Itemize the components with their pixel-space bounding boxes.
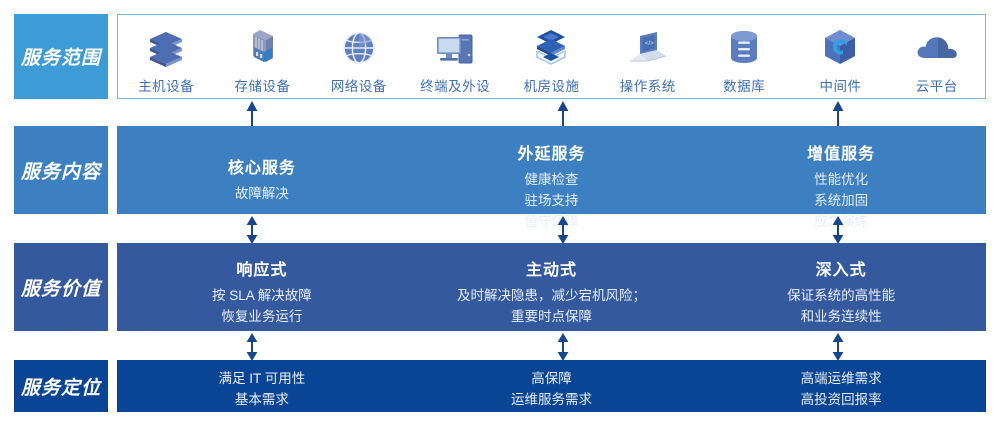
- scope-item-facility[interactable]: 机房设施: [503, 15, 599, 98]
- arrow-value-to-content-left: [236, 216, 268, 244]
- value-column-responsive[interactable]: 响应式 按 SLA 解决故障 恢复业务运行: [117, 243, 407, 331]
- scope-item-label: 机房设施: [523, 75, 579, 95]
- position-columns: 满足 IT 可用性 基本需求 高保障 运维服务需求 高端运维需求 高投资回报率: [117, 360, 986, 412]
- scope-item-label: 终端及外设: [420, 75, 490, 95]
- position-column-assurance[interactable]: 高保障 运维服务需求: [407, 360, 697, 412]
- value-column-title: 响应式: [236, 256, 287, 280]
- desktop-terminal-icon: [431, 26, 479, 70]
- position-column-line: 满足 IT 可用性: [218, 369, 305, 390]
- scope-item-database[interactable]: 数据库: [696, 15, 792, 98]
- arrow-position-to-value-left: [236, 333, 268, 361]
- scope-item-label: 主机设备: [138, 75, 194, 95]
- scope-columns: 主机设备: [118, 15, 985, 98]
- scope-item-storage[interactable]: 存储设备: [214, 15, 310, 98]
- arrow-position-to-value-right: [822, 333, 854, 361]
- position-column-line: 高端运维需求: [801, 369, 882, 390]
- row-label-text: 服务范围: [21, 43, 101, 70]
- position-column-line: 高保障: [531, 369, 572, 390]
- arrow-position-to-value-center: [547, 333, 579, 361]
- scope-item-middleware[interactable]: 中间件: [792, 15, 888, 98]
- content-columns: 核心服务 故障解决 外延服务 健康检查 驻场支持 值守保障 增值服务 性能优化 …: [117, 126, 986, 214]
- position-column-line: 高投资回报率: [801, 390, 882, 411]
- value-column-line: 按 SLA 解决故障: [212, 286, 312, 307]
- row-label-text: 服务内容: [21, 157, 101, 184]
- arrow-content-to-scope-center: [547, 101, 579, 127]
- content-column-extended[interactable]: 外延服务 健康检查 驻场支持 值守保障: [407, 126, 697, 214]
- arrow-value-to-content-right: [822, 216, 854, 244]
- panel-service-content: 核心服务 故障解决 外延服务 健康检查 驻场支持 值守保障 增值服务 性能优化 …: [117, 126, 986, 214]
- database-cylinder-icon: [720, 26, 768, 70]
- cube-middleware-icon: [816, 26, 864, 70]
- row-label-service-value: 服务价值: [14, 243, 108, 331]
- row-label-service-content: 服务内容: [14, 126, 108, 214]
- content-column-title: 增值服务: [807, 140, 875, 164]
- value-column-title: 深入式: [816, 256, 867, 280]
- laptop-os-icon: </>: [624, 26, 672, 70]
- content-column-core[interactable]: 核心服务 故障解决: [117, 126, 407, 214]
- data-center-facility-icon: [527, 26, 575, 70]
- content-column-line: 性能优化: [814, 170, 868, 191]
- scope-item-label: 操作系统: [620, 75, 676, 95]
- row-label-text: 服务定位: [21, 373, 101, 400]
- value-columns: 响应式 按 SLA 解决故障 恢复业务运行 主动式 及时解决隐患，减少宕机风险；…: [117, 243, 986, 331]
- position-column-line: 运维服务需求: [511, 390, 592, 411]
- scope-item-host[interactable]: 主机设备: [118, 15, 214, 98]
- value-column-title: 主动式: [526, 256, 577, 280]
- position-column-line: 基本需求: [235, 390, 289, 411]
- scope-item-cloud[interactable]: 云平台: [889, 15, 985, 98]
- row-label-service-position: 服务定位: [14, 360, 108, 412]
- content-column-value-added[interactable]: 增值服务 性能优化 系统加固 应急演练: [696, 126, 986, 214]
- value-column-proactive[interactable]: 主动式 及时解决隐患，减少宕机风险； 重要时点保障: [407, 243, 697, 331]
- panel-service-value: 响应式 按 SLA 解决故障 恢复业务运行 主动式 及时解决隐患，减少宕机风险；…: [117, 243, 986, 331]
- content-column-line: 健康检查: [525, 170, 579, 191]
- scope-item-network[interactable]: 网络设备: [311, 15, 407, 98]
- scope-item-label: 云平台: [916, 75, 958, 95]
- scope-item-os[interactable]: </> 操作系统: [600, 15, 696, 98]
- cloud-platform-icon: [913, 26, 961, 70]
- scope-item-label: 网络设备: [331, 75, 387, 95]
- scope-item-terminal[interactable]: 终端及外设: [407, 15, 503, 98]
- value-column-line: 恢复业务运行: [221, 307, 302, 328]
- content-column-title: 核心服务: [228, 154, 296, 178]
- arrow-content-to-scope-right: [822, 101, 854, 127]
- globe-network-icon: [335, 26, 383, 70]
- position-column-basic[interactable]: 满足 IT 可用性 基本需求: [117, 360, 407, 412]
- value-column-line: 和业务连续性: [801, 307, 882, 328]
- panel-service-scope: 主机设备: [117, 14, 986, 99]
- arrow-content-to-scope-left: [236, 101, 268, 127]
- value-column-line: 重要时点保障: [511, 307, 592, 328]
- value-column-indepth[interactable]: 深入式 保证系统的高性能 和业务连续性: [696, 243, 986, 331]
- row-label-text: 服务价值: [21, 274, 101, 301]
- panel-service-position: 满足 IT 可用性 基本需求 高保障 运维服务需求 高端运维需求 高投资回报率: [117, 360, 986, 412]
- content-column-line: 故障解决: [235, 184, 289, 205]
- row-label-service-scope: 服务范围: [14, 14, 108, 99]
- position-column-advanced[interactable]: 高端运维需求 高投资回报率: [696, 360, 986, 412]
- scope-item-label: 数据库: [723, 75, 765, 95]
- svg-text:</>: </>: [645, 41, 654, 47]
- service-framework-diagram: 服务范围: [0, 0, 1000, 424]
- server-stack-icon: [142, 26, 190, 70]
- storage-array-icon: [238, 26, 286, 70]
- scope-item-label: 中间件: [819, 75, 861, 95]
- arrow-value-to-content-center: [547, 216, 579, 244]
- content-column-line: 系统加固: [814, 191, 868, 212]
- content-column-title: 外延服务: [518, 140, 586, 164]
- value-column-line: 及时解决隐患，减少宕机风险；: [457, 286, 646, 307]
- content-column-line: 驻场支持: [525, 191, 579, 212]
- value-column-line: 保证系统的高性能: [787, 286, 895, 307]
- scope-item-label: 存储设备: [234, 75, 290, 95]
